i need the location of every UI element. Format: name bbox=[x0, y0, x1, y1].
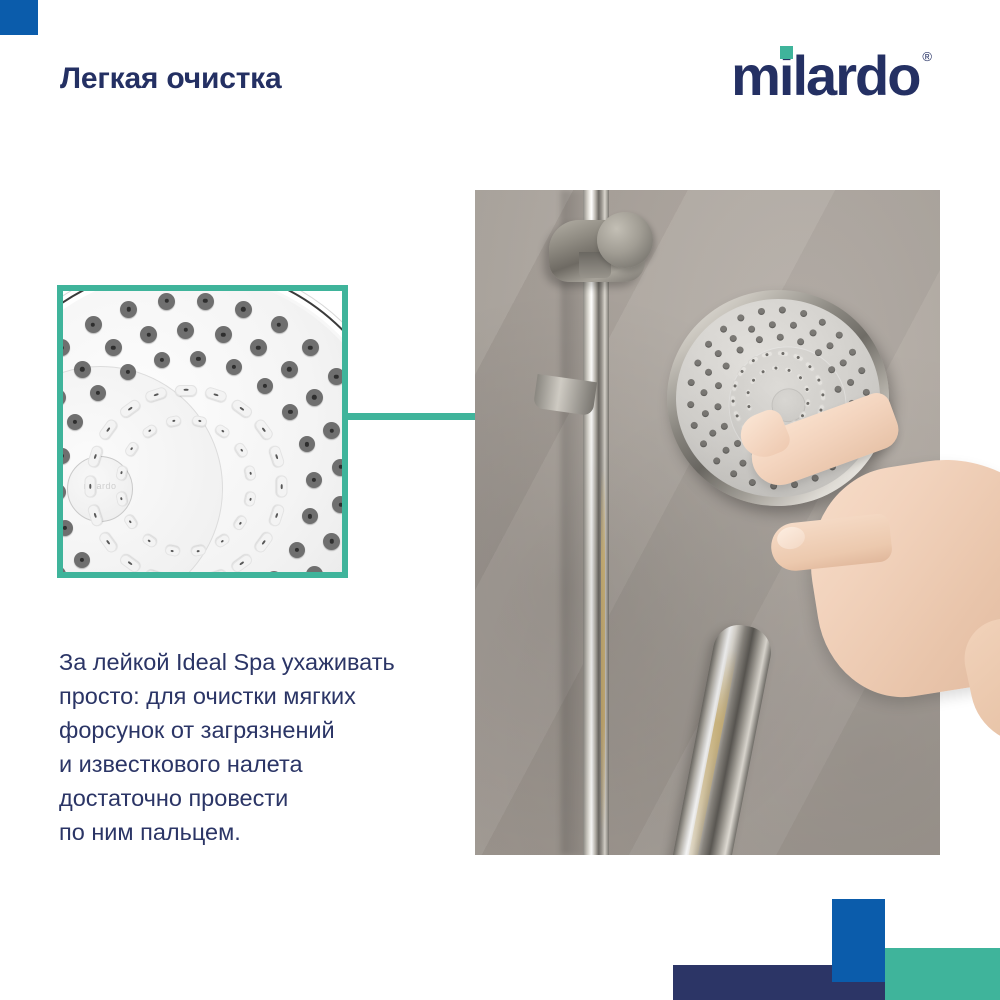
nozzle-slot bbox=[795, 372, 806, 383]
nozzle-slot bbox=[230, 553, 254, 572]
nozzle-dot bbox=[810, 329, 817, 336]
body-line: форсунок от загрязнений bbox=[59, 713, 459, 747]
decor-square-top-left bbox=[0, 0, 38, 35]
nozzle-slot bbox=[736, 365, 748, 378]
nozzle-dot bbox=[90, 385, 106, 401]
nozzle-dot bbox=[306, 389, 323, 406]
nozzle-dot bbox=[791, 481, 798, 488]
upper-bracket-notch bbox=[579, 252, 611, 278]
nozzle-dot bbox=[844, 420, 851, 427]
nozzle-dot bbox=[700, 389, 707, 396]
nozzle-dot bbox=[723, 362, 730, 369]
nozzle-slot bbox=[752, 433, 765, 444]
nozzle-dot bbox=[834, 407, 841, 414]
nozzle-dot bbox=[705, 368, 712, 375]
body-paragraph: За лейкой Ideal Spa ухаживать просто: дл… bbox=[59, 645, 459, 849]
nozzle-dot bbox=[751, 451, 758, 458]
shower-wand-reflection bbox=[681, 649, 738, 855]
nozzle-slot bbox=[203, 386, 227, 403]
nozzle-dot bbox=[828, 366, 835, 373]
nozzle-dot bbox=[847, 378, 854, 385]
nozzle-dot bbox=[709, 430, 716, 437]
shower-head bbox=[660, 283, 897, 514]
nozzle-dot bbox=[861, 409, 868, 416]
nozzle-dot bbox=[797, 338, 804, 345]
nozzle-dot bbox=[812, 442, 819, 449]
shower-head-chrome-rim bbox=[660, 283, 897, 514]
slide-bar-shadow bbox=[561, 190, 595, 855]
nozzle-dot bbox=[140, 326, 157, 343]
nozzle-dot bbox=[197, 293, 214, 310]
nozzle-slot bbox=[804, 360, 817, 373]
nozzle-dot bbox=[688, 379, 695, 386]
nozzle-dot bbox=[306, 566, 323, 572]
nozzle-slot bbox=[808, 418, 820, 431]
nozzle-slot bbox=[244, 491, 257, 508]
nozzle-dot bbox=[770, 482, 777, 489]
nozzle-dot bbox=[699, 440, 706, 447]
nozzle-dot bbox=[826, 427, 833, 434]
nozzle-dot bbox=[793, 452, 800, 459]
nozzle-dot bbox=[713, 457, 720, 464]
nozzle-slot bbox=[782, 437, 795, 446]
nozzle-dot bbox=[748, 325, 755, 332]
nozzle-dot bbox=[758, 308, 765, 315]
nozzle-slot bbox=[269, 503, 286, 527]
nozzle-slot bbox=[791, 352, 804, 363]
registered-trademark-icon: ® bbox=[922, 50, 932, 63]
nozzle-dot bbox=[848, 399, 855, 406]
nozzle-dot bbox=[827, 342, 834, 349]
disc-center-label: milardo bbox=[68, 481, 132, 491]
nozzle-closeup-image: milardo bbox=[63, 291, 342, 572]
decor-square-bottom-teal bbox=[885, 948, 1000, 1000]
nozzle-dot bbox=[63, 339, 70, 356]
nozzle-slot bbox=[776, 350, 789, 357]
nozzle-dot bbox=[690, 421, 697, 428]
nozzle-slot bbox=[804, 398, 811, 408]
nozzle-dot bbox=[328, 368, 342, 385]
shower-head-face bbox=[669, 292, 886, 504]
nozzle-slot bbox=[732, 410, 742, 423]
nozzle-dot bbox=[302, 508, 318, 524]
nozzle-dot bbox=[299, 436, 315, 452]
nozzle-dot bbox=[800, 464, 807, 471]
nozzle-dot bbox=[719, 325, 726, 332]
nozzle-dot bbox=[836, 331, 843, 338]
nozzle-slot bbox=[730, 395, 737, 407]
nozzle-slot bbox=[745, 389, 752, 399]
nozzle-dot bbox=[714, 403, 721, 410]
nozzle-dot bbox=[720, 423, 727, 430]
nozzle-slot bbox=[730, 379, 739, 392]
nozzle-dot bbox=[323, 422, 340, 439]
nozzle-slot bbox=[817, 404, 826, 417]
body-line: достаточно провести bbox=[59, 781, 459, 815]
nozzle-dot bbox=[271, 316, 288, 333]
nozzle-slot bbox=[232, 514, 249, 532]
nozzle-dot bbox=[749, 479, 756, 486]
nozzle-slot bbox=[214, 423, 232, 440]
nozzle-slot bbox=[788, 419, 799, 429]
nozzle-dot bbox=[694, 359, 701, 366]
nozzle-dot bbox=[323, 533, 340, 550]
nozzle-dot bbox=[835, 386, 842, 393]
nozzle-slot bbox=[203, 569, 227, 572]
brand-logo: milardo ® bbox=[731, 48, 932, 104]
shower-wand-handle bbox=[656, 621, 776, 855]
nozzle-slot bbox=[751, 413, 762, 424]
nozzle-dot bbox=[849, 348, 856, 355]
nozzle-dot bbox=[815, 349, 822, 356]
upper-wall-bracket bbox=[549, 220, 645, 282]
nozzle-dot bbox=[105, 339, 122, 356]
nozzle-dot bbox=[332, 496, 342, 513]
shower-head-nozzles bbox=[669, 292, 873, 306]
nozzle-dot bbox=[737, 314, 744, 321]
nozzle-slot bbox=[819, 389, 826, 401]
nozzle-dot bbox=[769, 320, 776, 327]
body-line: по ним пальцем. bbox=[59, 815, 459, 849]
disc-face: milardo bbox=[63, 291, 342, 572]
nozzle-dot bbox=[190, 351, 206, 367]
slide-bar-reflection bbox=[601, 470, 605, 830]
nozzle-slot bbox=[767, 439, 780, 446]
nozzle-slot bbox=[213, 533, 231, 550]
nozzle-dot bbox=[226, 359, 242, 375]
nozzle-closeup-callout: milardo bbox=[57, 285, 348, 578]
nozzle-dot bbox=[332, 459, 342, 476]
nozzle-dot bbox=[862, 388, 869, 395]
nozzle-dot bbox=[855, 430, 862, 437]
nozzle-dot bbox=[858, 367, 865, 374]
shower-slide-bar bbox=[583, 190, 609, 855]
nozzle-slot bbox=[761, 350, 774, 359]
nozzle-dot bbox=[772, 455, 779, 462]
nozzle-slot bbox=[762, 421, 773, 430]
nozzle-slot bbox=[798, 409, 808, 420]
nozzle-dot bbox=[819, 319, 826, 326]
nozzle-dot bbox=[250, 339, 267, 356]
nozzle-slot bbox=[277, 475, 288, 497]
nozzle-slot bbox=[230, 397, 254, 419]
nozzle-dot bbox=[755, 336, 762, 343]
nozzle-slot bbox=[175, 385, 197, 396]
nozzle-dot bbox=[722, 447, 729, 454]
nozzle-dot bbox=[779, 306, 786, 313]
nozzle-dot bbox=[702, 410, 709, 417]
nozzle-dot bbox=[839, 359, 846, 366]
nozzle-dot bbox=[819, 453, 826, 460]
nozzle-slot bbox=[802, 384, 810, 394]
nozzle-dot bbox=[790, 322, 797, 329]
decor-square-bottom-blue bbox=[832, 899, 885, 982]
nozzle-dot bbox=[281, 361, 298, 378]
logo-wordmark: milardo bbox=[731, 48, 919, 104]
nozzle-dot bbox=[257, 378, 273, 394]
nozzle-dot bbox=[67, 414, 83, 430]
nozzle-dot bbox=[686, 400, 693, 407]
nozzle-dot bbox=[302, 339, 319, 356]
nozzle-slot bbox=[797, 429, 810, 441]
photo-wall-background bbox=[475, 190, 940, 855]
body-line: и известкового налета bbox=[59, 747, 459, 781]
nozzle-slot bbox=[771, 365, 780, 372]
body-line: За лейкой Ideal Spa ухаживать bbox=[59, 645, 459, 679]
hand-wrist bbox=[957, 597, 1000, 755]
nozzle-dot bbox=[729, 470, 736, 477]
nozzle-dot bbox=[715, 350, 722, 357]
nozzle-slot bbox=[758, 367, 769, 377]
nozzle-dot bbox=[715, 382, 722, 389]
nozzle-dot bbox=[289, 542, 305, 558]
nozzle-slot bbox=[244, 465, 257, 482]
nozzle-dot bbox=[739, 459, 746, 466]
nozzle-dot bbox=[704, 341, 711, 348]
nozzle-dot bbox=[74, 552, 90, 568]
nozzle-slot bbox=[739, 423, 752, 436]
nozzle-slot bbox=[253, 417, 275, 441]
nozzle-dot bbox=[800, 310, 807, 317]
nozzle-dot bbox=[759, 467, 766, 474]
nozzle-dot bbox=[158, 293, 175, 310]
nozzle-slot bbox=[269, 444, 286, 468]
nozzle-slot bbox=[784, 366, 795, 375]
nozzle-dot bbox=[120, 301, 137, 318]
nozzle-dot bbox=[834, 439, 841, 446]
nozzle-dot bbox=[177, 322, 194, 339]
nozzle-dot bbox=[780, 468, 787, 475]
nozzle-dot bbox=[730, 335, 737, 342]
nozzle-dot bbox=[85, 316, 102, 333]
nozzle-slot bbox=[190, 544, 207, 557]
nozzle-slot bbox=[85, 475, 96, 497]
nozzle-dot bbox=[829, 463, 836, 470]
shower-head-center-hub bbox=[770, 387, 806, 423]
nozzle-dot bbox=[266, 571, 282, 572]
nozzle-slot bbox=[776, 425, 785, 432]
shower-head-neck bbox=[533, 374, 597, 416]
nozzle-dot bbox=[306, 472, 322, 488]
nozzle-dot bbox=[733, 440, 740, 447]
shower-head-inner-zone bbox=[725, 342, 851, 468]
nozzle-dot bbox=[737, 346, 744, 353]
nozzle-dot bbox=[776, 333, 783, 340]
nozzle-dot bbox=[235, 301, 252, 318]
body-line: просто: для очистки мягких bbox=[59, 679, 459, 713]
nozzle-dot bbox=[844, 448, 851, 455]
nozzle-slot bbox=[233, 441, 250, 459]
nozzle-dot bbox=[811, 474, 818, 481]
nozzle-slot bbox=[253, 530, 275, 554]
nozzle-slot bbox=[748, 376, 758, 387]
logo-accent-dot-icon bbox=[780, 46, 793, 59]
nozzle-dot bbox=[120, 364, 136, 380]
product-photo bbox=[475, 190, 940, 855]
nozzle-dot bbox=[154, 352, 170, 368]
nozzle-slot bbox=[814, 373, 824, 386]
nozzle-dot bbox=[215, 326, 232, 343]
nozzle-slot bbox=[745, 402, 753, 412]
nozzle-dot bbox=[282, 404, 298, 420]
nozzle-slot bbox=[746, 355, 759, 367]
page-title: Легкая очистка bbox=[60, 62, 281, 96]
nozzle-dot bbox=[74, 361, 91, 378]
upper-bracket-knob bbox=[597, 212, 653, 268]
